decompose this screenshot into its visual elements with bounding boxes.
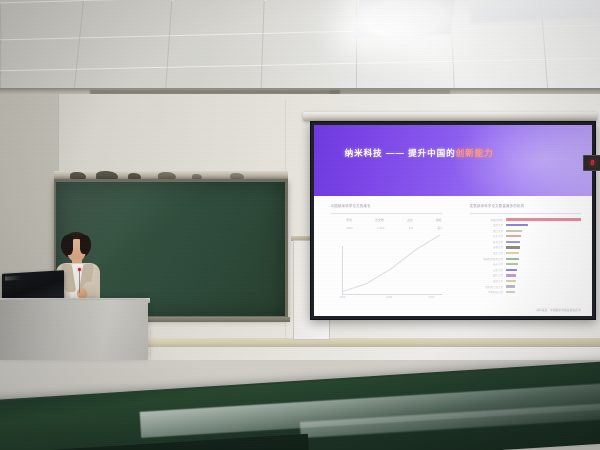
right-panel-heading: 发表纳米科学论文数量最多的机构 <box>470 203 525 208</box>
bar-label: 南京大学 <box>470 251 506 255</box>
lc-col-header-2: 占比 <box>407 218 413 222</box>
bar-row: 复旦大学 <box>470 240 581 244</box>
right-panel-rule <box>470 213 581 214</box>
bar-fill <box>506 241 520 243</box>
bar-row: 哈尔滨工业大学 <box>470 284 581 288</box>
lc-xtick-4: 2016 <box>429 296 435 299</box>
microphone-wire <box>79 271 80 293</box>
bar-fill <box>506 246 520 248</box>
bar-label: 复旦大学 <box>470 240 506 244</box>
led-sign: 8 <box>583 155 600 171</box>
left-panel-heading: 中国纳米科学论文的增长 <box>331 203 371 208</box>
bar-fill <box>506 263 518 265</box>
lc-col-header-3: 排名 <box>436 218 442 222</box>
bar-label: 华中科技大学 <box>470 290 506 294</box>
line-chart-col-headers: 年份 论文数 占比 排名 <box>346 218 442 222</box>
bar-row: 清华大学 <box>470 223 581 227</box>
bar-row: 浙江大学 <box>470 229 581 233</box>
bar-label: 吉林大学 <box>470 245 506 249</box>
bar-fill <box>506 280 516 282</box>
fluorescent-light-panel <box>354 0 457 38</box>
bar-label: 中国科学技术大学 <box>470 257 506 261</box>
bar-fill <box>506 224 528 226</box>
suspended-ceiling <box>0 0 600 96</box>
bar-fill <box>506 269 517 271</box>
bar-row: 南京大学 <box>470 251 581 255</box>
bar-fill <box>506 258 519 260</box>
lc-xtick-2: 2008 <box>386 296 392 299</box>
bar-label: 北京大学 <box>470 234 506 238</box>
bar-row: 山东大学 <box>470 268 581 272</box>
slide-title-accent: 创新能力 <box>456 148 494 158</box>
slide-header-band: 纳米科技 —— 提升中国的创新能力 <box>314 125 592 196</box>
bar-row: 四川大学 <box>470 273 581 277</box>
bar-row: 吉林大学 <box>470 245 581 249</box>
presentation-slide: 纳米科技 —— 提升中国的创新能力 中国纳米科学论文的增长 年份 论文数 占比 … <box>314 125 592 316</box>
bar-label: 山东大学 <box>470 268 506 272</box>
lc-col-header-1: 论文数 <box>375 218 384 222</box>
line-chart-series <box>331 227 442 294</box>
bar-fill <box>506 252 519 254</box>
bar-label: 中国科学院 <box>470 218 506 222</box>
led-sign-text: 8 <box>590 160 594 167</box>
left-panel-rule <box>331 213 442 214</box>
clip-on-microphone <box>78 268 81 271</box>
slide-title: 纳米科技 —— 提升中国的创新能力 <box>345 147 494 159</box>
bar-label: 天津大学 <box>470 279 506 283</box>
bar-label: 四川大学 <box>470 273 506 277</box>
bar-label: 哈尔滨工业大学 <box>470 285 506 289</box>
bar-row: 苏州大学 <box>470 262 581 266</box>
slide-source-note: 资料来源：中国纳米科技发展白皮书 <box>536 308 581 312</box>
line-chart: 年份 论文数 占比 排名 2000 1,200 4% 第4 <box>331 227 442 294</box>
screenshot-root: 纳米科技 —— 提升中国的创新能力 中国纳米科学论文的增长 年份 论文数 占比 … <box>0 0 600 450</box>
bar-fill <box>506 230 522 232</box>
bar-fill <box>506 235 521 237</box>
bar-row: 中国科学技术大学 <box>470 256 581 260</box>
bar-fill <box>506 285 515 287</box>
laptop-screen-gleam <box>5 276 21 281</box>
foreground-desk <box>0 352 600 450</box>
podium <box>0 300 148 360</box>
presenter-hair-left <box>61 235 73 255</box>
bar-row: 中国科学院 <box>470 217 581 221</box>
bar-fill <box>506 291 515 293</box>
lc-xtick-0: 2000 <box>340 296 346 299</box>
bar-label: 清华大学 <box>470 223 506 227</box>
bar-chart: 中国科学院清华大学浙江大学北京大学复旦大学吉林大学南京大学中国科学技术大学苏州大… <box>470 217 581 301</box>
slide-body: 中国纳米科学论文的增长 年份 论文数 占比 排名 2000 1,200 4% 第… <box>314 196 592 316</box>
presenter-hair-right <box>80 235 91 254</box>
lc-col-header-0: 年份 <box>346 218 352 222</box>
bar-label: 苏州大学 <box>470 262 506 266</box>
bar-label: 浙江大学 <box>470 229 506 233</box>
bar-row: 华中科技大学 <box>470 290 581 294</box>
bar-fill <box>506 218 581 220</box>
bar-row: 北京大学 <box>470 234 581 238</box>
slide-title-main: 纳米科技 —— 提升中国的 <box>345 148 456 158</box>
projector-screen-roller <box>303 112 597 121</box>
bar-fill <box>506 274 516 276</box>
projection-screen: 纳米科技 —— 提升中国的创新能力 中国纳米科学论文的增长 年份 论文数 占比 … <box>310 121 596 320</box>
bar-row: 天津大学 <box>470 279 581 283</box>
